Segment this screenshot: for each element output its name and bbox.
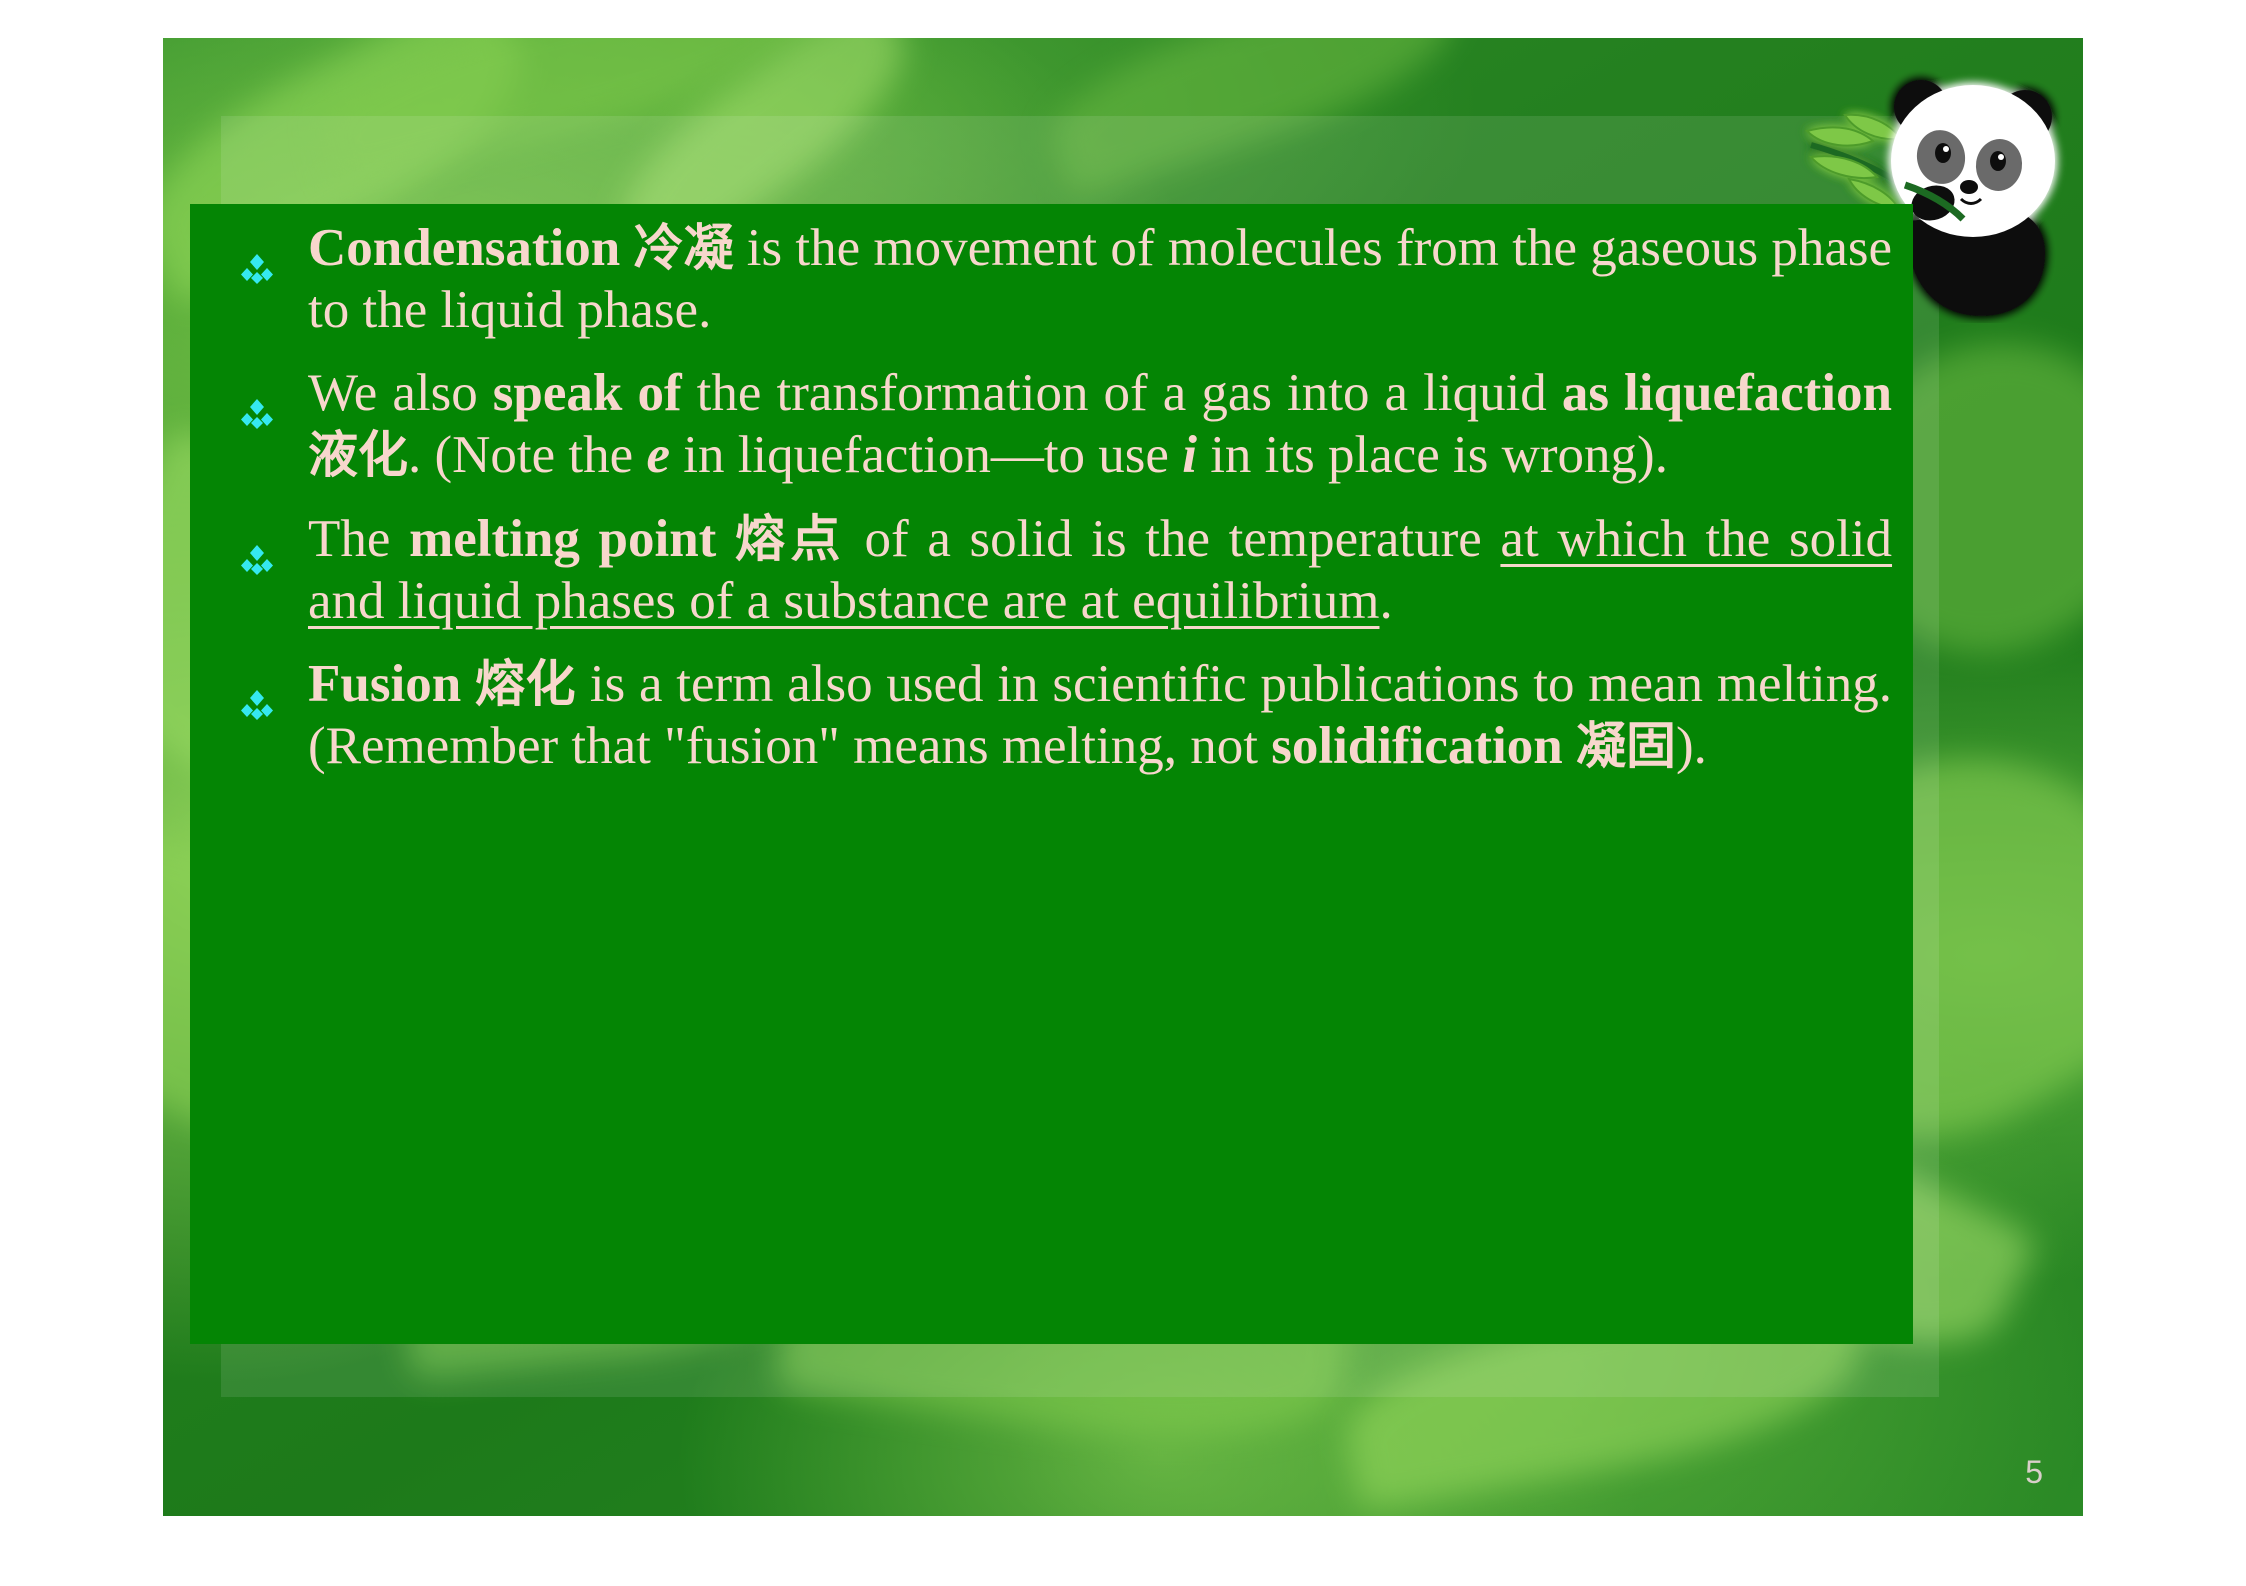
- bullet-2-bold-term-1: speak of: [493, 364, 682, 422]
- bullet-4-bold-term-2: solidification: [1271, 717, 1563, 775]
- bullet-2-italic-letter-i: i: [1182, 426, 1197, 484]
- bullet-2-text-3: . (Note the: [408, 426, 646, 484]
- bullet-1-chinese-term: 冷凝: [633, 219, 733, 277]
- bullet-list: Condensation 冷凝 is the movement of molec…: [216, 218, 1892, 778]
- four-diamond-bullet-icon: [240, 675, 274, 709]
- four-diamond-bullet-icon: [240, 239, 274, 273]
- list-item: The melting point 熔点 of a solid is the t…: [216, 509, 1892, 632]
- bullet-2-text-5: in its place is wrong).: [1197, 426, 1668, 484]
- slide-content-box: Condensation 冷凝 is the movement of molec…: [190, 204, 1913, 1344]
- list-item: We also speak of the transformation of a…: [216, 363, 1892, 486]
- list-item: Fusion 熔化 is a term also used in scienti…: [216, 654, 1892, 777]
- bullet-3-text-2: of a solid is the temperature: [846, 510, 1501, 568]
- bullet-3-bold-term: melting point: [409, 510, 716, 568]
- bullet-1-bold-term: Condensation: [308, 219, 633, 277]
- slide-canvas: Condensation 冷凝 is the movement of molec…: [0, 0, 2246, 1586]
- four-diamond-bullet-icon: [240, 530, 274, 564]
- presentation-slide: Condensation 冷凝 is the movement of molec…: [163, 38, 2083, 1516]
- bullet-4-bold-term-1: Fusion: [308, 655, 475, 713]
- bullet-4-chinese-term-1: 熔化: [475, 655, 576, 713]
- bullet-2-text-4: in liquefaction—to use: [670, 426, 1182, 484]
- bullet-3-text-3: .: [1379, 572, 1392, 630]
- bullet-4-chinese-term-2: 凝固: [1576, 717, 1676, 775]
- bullet-2-bold-term-2: as liquefaction: [1562, 364, 1892, 422]
- bullet-2-italic-letter-e: e: [646, 426, 670, 484]
- four-diamond-bullet-icon: [240, 384, 274, 418]
- bullet-2-chinese-term: 液化: [308, 426, 408, 484]
- bullet-3-chinese-term: 熔点: [735, 510, 846, 568]
- bullet-3-text-1: The: [308, 510, 409, 568]
- bullet-2-text-1: We also: [308, 364, 493, 422]
- bullet-2-text-2: the transformation of a gas into a liqui…: [682, 364, 1562, 422]
- bullet-4-text-2: ).: [1676, 717, 1707, 775]
- page-number: 5: [2025, 1454, 2043, 1491]
- list-item: Condensation 冷凝 is the movement of molec…: [216, 218, 1892, 341]
